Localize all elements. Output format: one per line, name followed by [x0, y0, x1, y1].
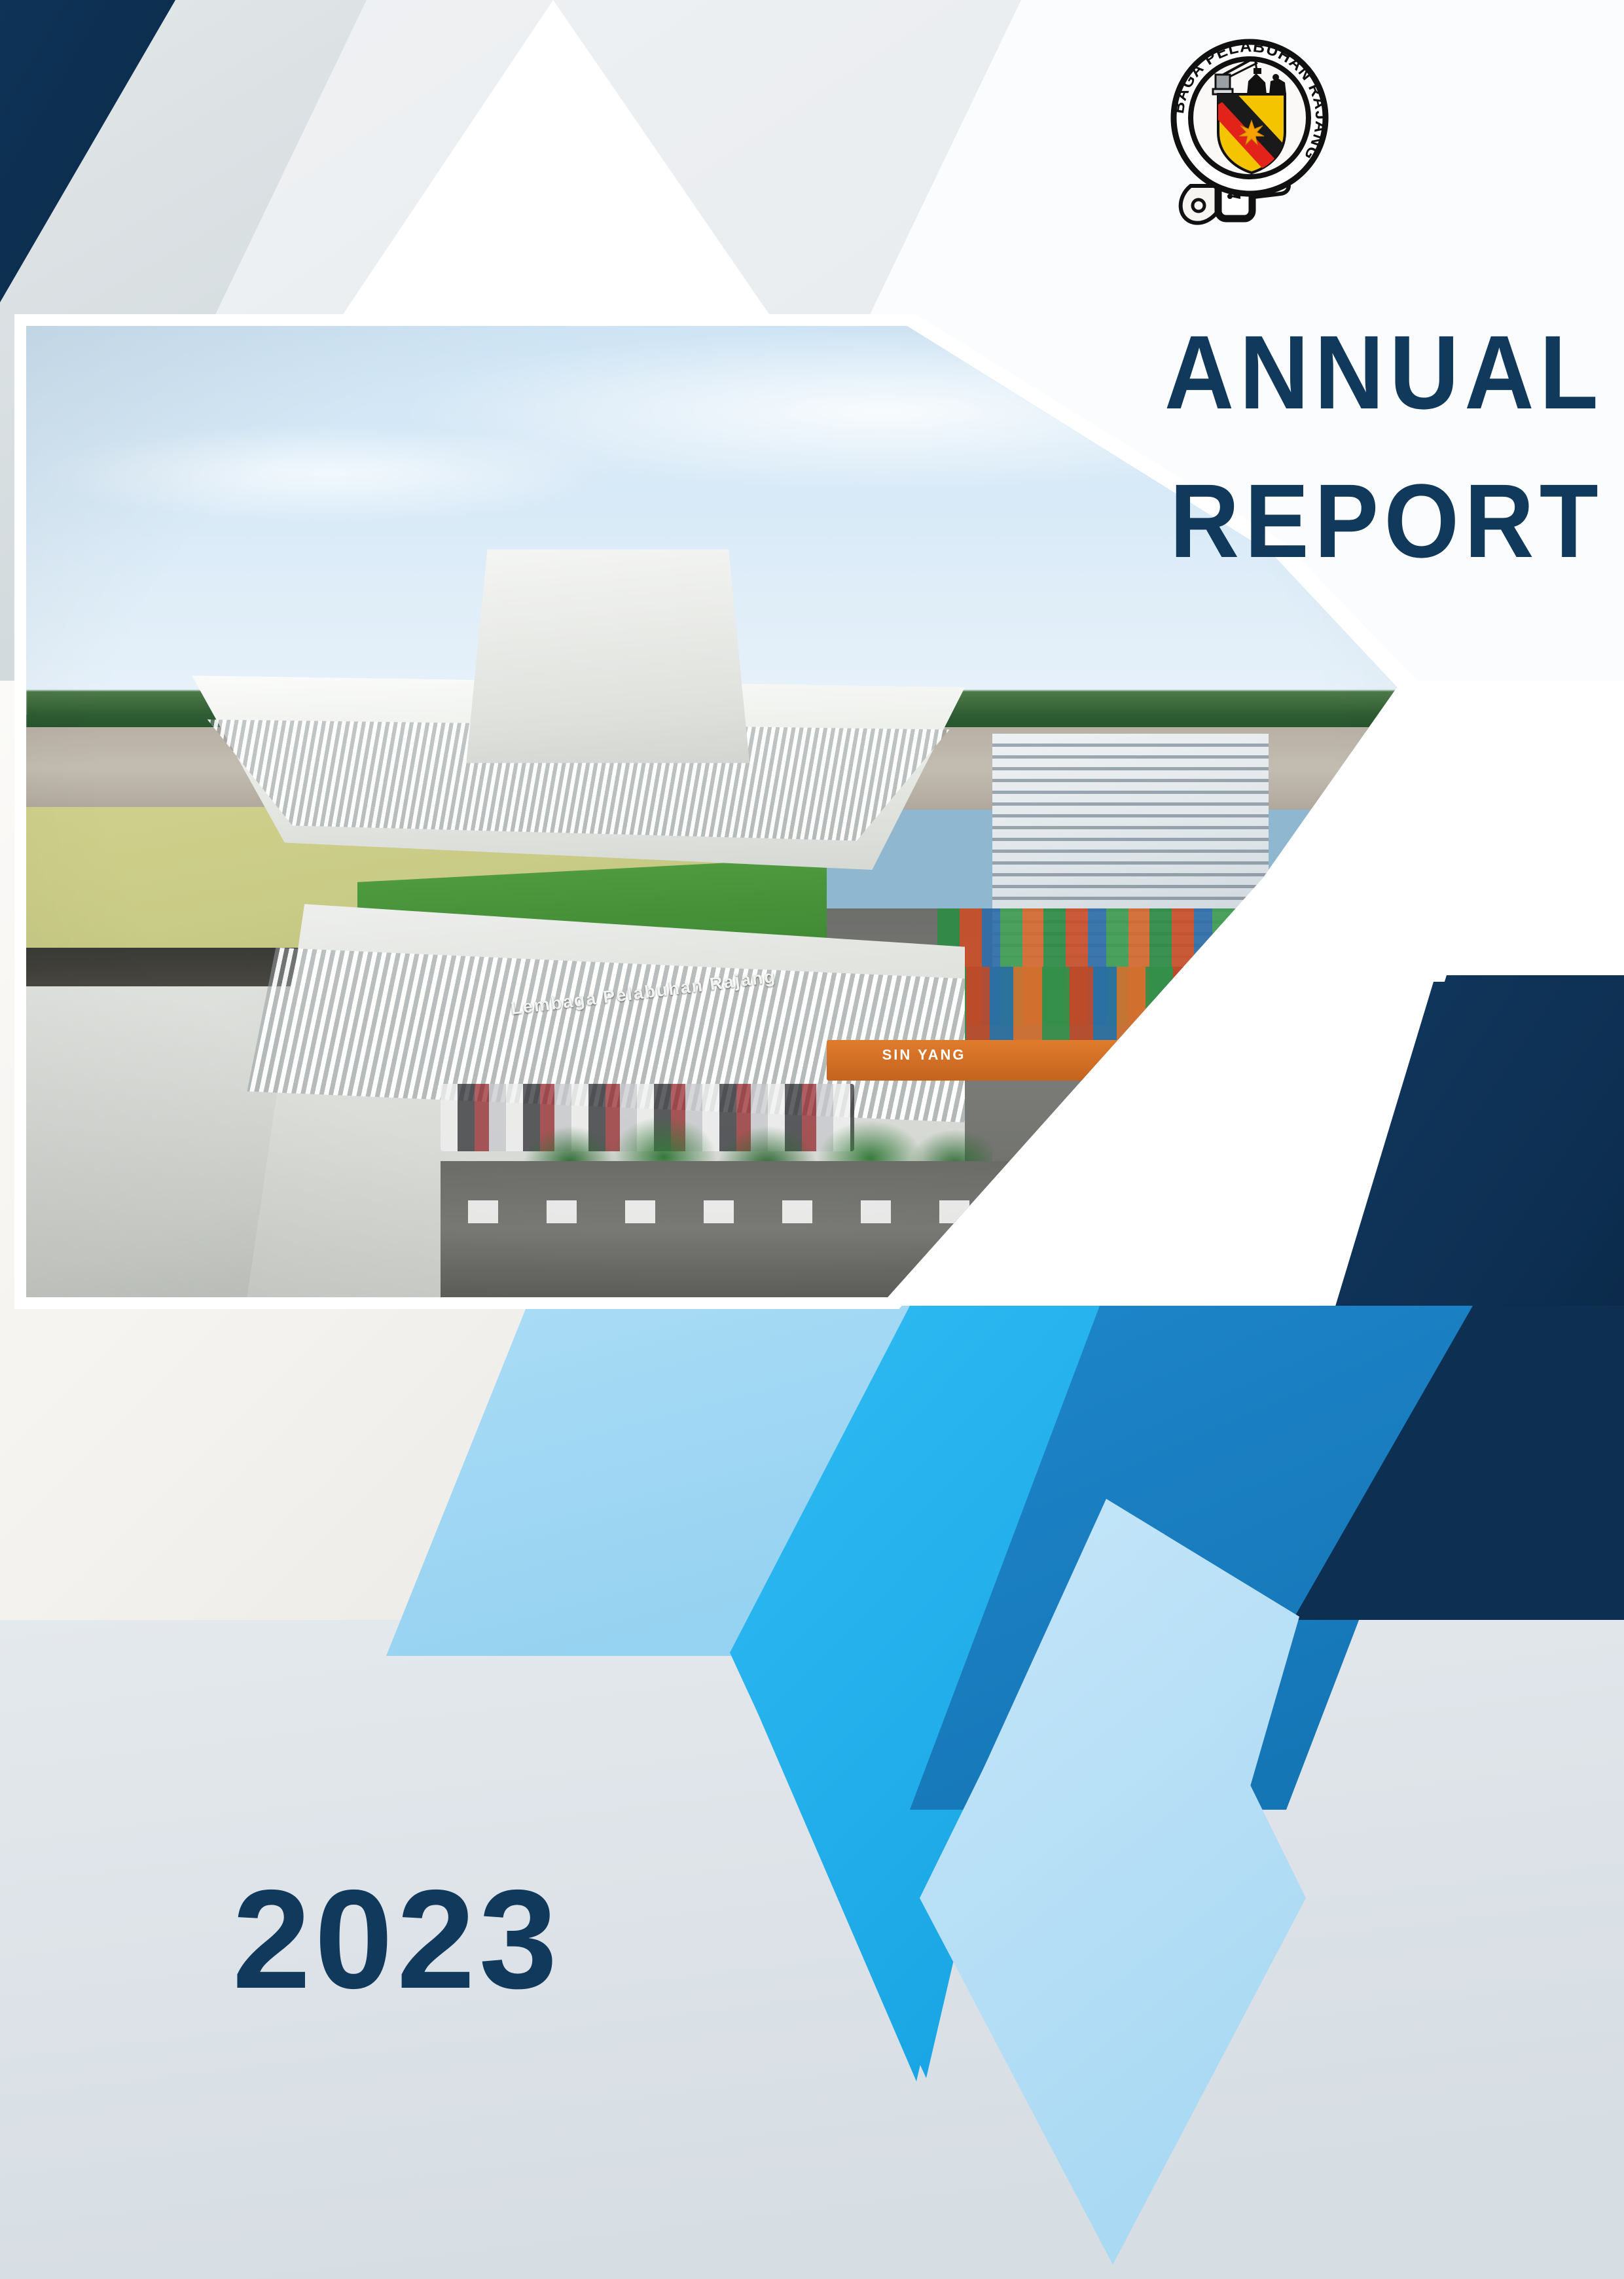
title-line-annual: ANNUAL	[772, 298, 1604, 446]
organization-logo: LEMBAGA PELABUHAN RAJANG	[1150, 34, 1353, 234]
title-line-report: REPORT	[772, 446, 1604, 595]
report-title-block: ANNUAL REPORT	[700, 298, 1604, 595]
report-year: 2023	[232, 1869, 561, 2009]
annual-report-cover-page: Lembaga Pelabuhan Rajang SIN YANG LEMBAG…	[0, 0, 1624, 2279]
